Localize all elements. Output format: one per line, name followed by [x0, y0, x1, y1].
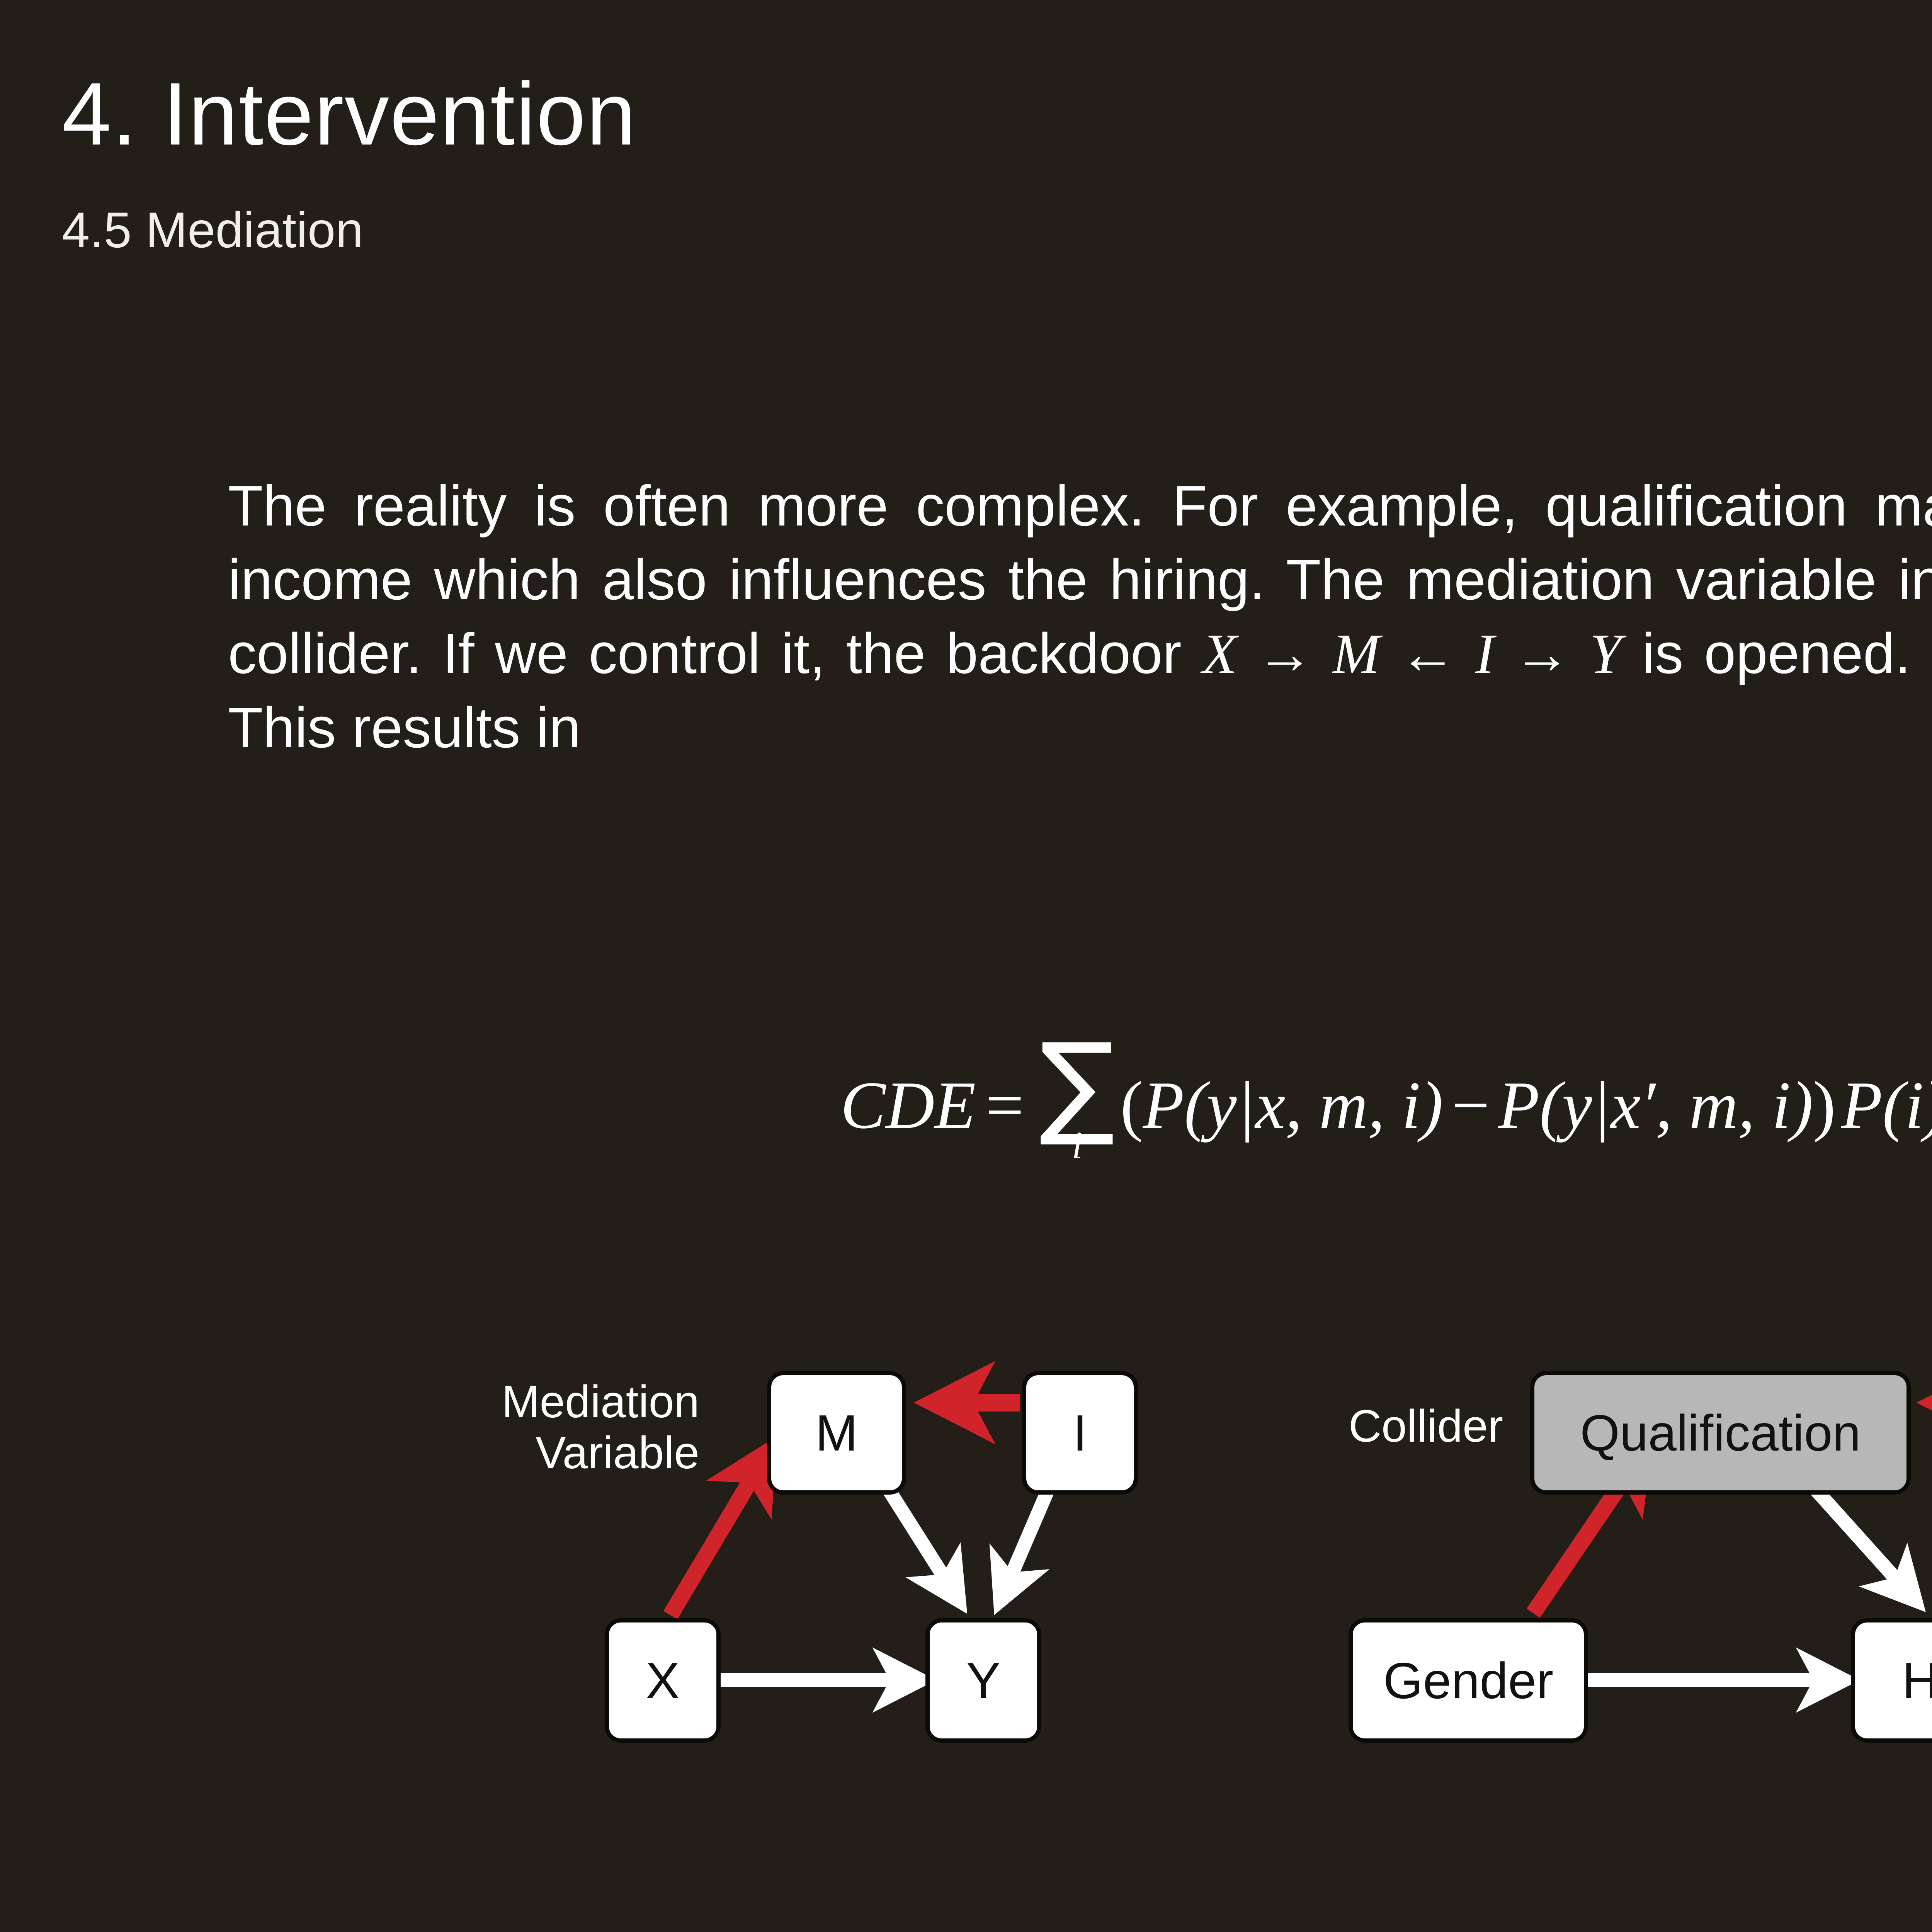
mediation-variable-label: Mediation Variable [437, 1376, 699, 1478]
node-X[interactable]: X [605, 1618, 721, 1743]
page-title: 4. Intervention [62, 70, 637, 158]
formula-term-2: P(y|x′, m, i) [1498, 1066, 1813, 1144]
cde-formula: CDE = ∑ i ( P(y|x, m, i) − P(y|x′, m, i)… [0, 1043, 1932, 1167]
formula-equals: = [976, 1066, 1034, 1144]
node-M[interactable]: M [767, 1371, 906, 1495]
backdoor-path: X → M ← I → Y [1202, 622, 1621, 686]
sigma-icon: ∑ [1039, 1041, 1115, 1128]
formula-close-paren: ) [1813, 1066, 1835, 1144]
node-Y[interactable]: Y [925, 1618, 1041, 1743]
body-line-1: The reality is often more complex. For e… [228, 474, 1932, 538]
body-line-4-pre: it, the backdoor [781, 622, 1202, 685]
formula-factor: P(i) [1836, 1066, 1932, 1144]
node-Qualification[interactable]: Qualification [1530, 1371, 1911, 1495]
summation: ∑ i [1039, 1041, 1115, 1165]
formula-open-paren: ( [1120, 1066, 1143, 1144]
body-line-4-post: is opened. So we need to adjust [1621, 622, 1932, 685]
formula-lhs: CDE [840, 1066, 976, 1144]
section-subtitle: 4.5 Mediation [62, 205, 364, 255]
node-Gender[interactable]: Gender [1349, 1618, 1588, 1743]
node-Hiring[interactable]: Hiring [1851, 1618, 1932, 1743]
sum-index: i [1072, 1126, 1083, 1165]
body-paragraph: The reality is often more complex. For e… [228, 469, 1932, 765]
formula-minus: − [1443, 1066, 1498, 1144]
node-I[interactable]: I [1022, 1371, 1138, 1495]
formula-term-1: P(y|x, m, i) [1143, 1066, 1443, 1144]
collider-label: Collider [1248, 1401, 1503, 1452]
